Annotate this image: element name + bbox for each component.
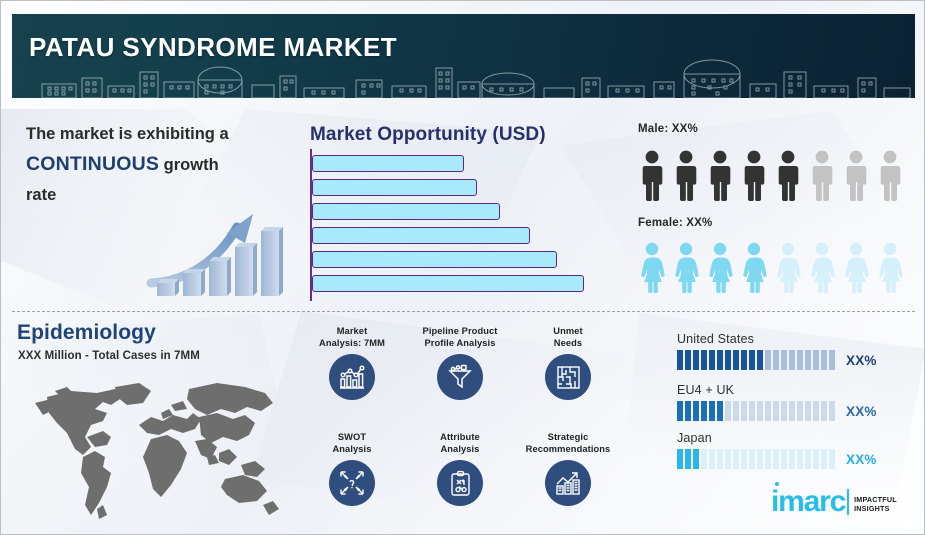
- segment: [677, 401, 683, 421]
- segment: [741, 350, 747, 370]
- male-person-icon: [637, 149, 667, 201]
- analysis-item-pipeline[interactable]: Pipeline Product Profile Analysis: [401, 325, 519, 400]
- logo-tagline: IMPACTFUL INSIGHTS: [854, 495, 897, 516]
- swot-arrows-question-icon[interactable]: [329, 460, 375, 506]
- segment: [733, 449, 739, 469]
- segment: [821, 449, 827, 469]
- growth-arrow-bar-chart-icon: [141, 199, 291, 299]
- analysis-item-swot[interactable]: SWOT Analysis: [293, 431, 411, 506]
- female-person-icon: [671, 241, 701, 293]
- segment: [773, 401, 779, 421]
- lead-line-1: The market is exhibiting a: [26, 125, 229, 143]
- segment: [757, 401, 763, 421]
- analysis-caption: Attribute Analysis: [401, 431, 519, 455]
- analysis-caption: SWOT Analysis: [293, 431, 411, 455]
- chart-bar: [312, 275, 584, 292]
- segment: [781, 350, 787, 370]
- country-segment-bar: [677, 401, 835, 421]
- male-person-icon: [739, 149, 769, 201]
- segment: [717, 350, 723, 370]
- analysis-caption-line2: Analysis: 7MM: [319, 338, 385, 348]
- segment: [829, 449, 835, 469]
- male-person-icon: [875, 149, 905, 201]
- segment: [805, 449, 811, 469]
- segment: [733, 350, 739, 370]
- market-opportunity-chart: [310, 149, 600, 301]
- country-name: United States: [677, 332, 877, 346]
- male-person-icon: [739, 149, 769, 201]
- segment: [813, 350, 819, 370]
- analysis-item-attribute[interactable]: Attribute Analysis: [401, 431, 519, 506]
- segment: [701, 401, 707, 421]
- segment: [685, 449, 691, 469]
- segment: [781, 449, 787, 469]
- segment: [693, 401, 699, 421]
- segment: [789, 449, 795, 469]
- segment: [701, 350, 707, 370]
- country-row-eu4-uk: EU4 + UK XX%: [677, 383, 877, 421]
- segment: [685, 350, 691, 370]
- female-person-icon: [841, 241, 871, 293]
- country-row-united-states: United States XX%: [677, 332, 877, 370]
- segment: [677, 350, 683, 370]
- analysis-caption-line2: Needs: [554, 338, 582, 348]
- segment: [757, 350, 763, 370]
- country-percent: XX%: [846, 353, 877, 368]
- male-person-icon: [671, 149, 701, 201]
- female-person-icon: [807, 241, 837, 293]
- chart-bar: [312, 203, 500, 220]
- logo-divider: [847, 489, 849, 515]
- analysis-caption: Unmet Needs: [509, 325, 627, 349]
- female-person-icon: [705, 241, 735, 293]
- analysis-caption-line1: Market: [337, 326, 368, 336]
- country-percent: XX%: [846, 452, 877, 467]
- market-opportunity-title: Market Opportunity (USD): [310, 124, 546, 146]
- segment: [749, 401, 755, 421]
- epidemiology-title: Epidemiology: [17, 321, 156, 345]
- segment: [789, 401, 795, 421]
- male-person-icon: [807, 149, 837, 201]
- segment: [709, 449, 715, 469]
- segment: [805, 401, 811, 421]
- clipboard-icon[interactable]: [437, 460, 483, 506]
- analysis-caption: Market Analysis: 7MM: [293, 325, 411, 349]
- analysis-caption-line2: Analysis: [440, 444, 479, 454]
- segment: [797, 350, 803, 370]
- female-person-icon: [671, 241, 701, 293]
- chart-bar: [312, 227, 530, 244]
- chart-bar: [312, 155, 464, 172]
- segment: [725, 449, 731, 469]
- segment: [821, 350, 827, 370]
- segment: [797, 449, 803, 469]
- analysis-item-market[interactable]: Market Analysis: 7MM: [293, 325, 411, 400]
- infographic-poster: PATAU SYNDROME MARKET: [0, 0, 925, 535]
- male-person-icon: [841, 149, 871, 201]
- analysis-caption-line2: Analysis: [332, 444, 371, 454]
- analysis-caption-line1: SWOT: [338, 432, 366, 442]
- analysis-caption-line1: Pipeline Product: [423, 326, 498, 336]
- segment: [797, 401, 803, 421]
- lead-highlight: CONTINUOUS: [26, 153, 159, 175]
- male-person-icon: [705, 149, 735, 201]
- segment: [813, 449, 819, 469]
- male-person-icon: [671, 149, 701, 201]
- analysis-caption-line2: Recommendations: [526, 444, 611, 454]
- segment: [709, 401, 715, 421]
- male-person-icon: [637, 149, 667, 201]
- country-segment-bar: [677, 449, 835, 469]
- segment: [741, 449, 747, 469]
- male-person-icon: [773, 149, 803, 201]
- segment: [733, 401, 739, 421]
- segment: [821, 401, 827, 421]
- epidemiology-subtitle: XXX Million - Total Cases in 7MM: [18, 350, 200, 362]
- country-percent: XX%: [846, 404, 877, 419]
- female-person-icon: [739, 241, 769, 293]
- female-person-icon: [637, 241, 667, 293]
- bar-chart-trend-icon[interactable]: [329, 354, 375, 400]
- segment: [749, 350, 755, 370]
- segment: [701, 449, 707, 469]
- segment: [749, 449, 755, 469]
- country-name: Japan: [677, 431, 877, 445]
- segment: [725, 401, 731, 421]
- male-label: Male: XX%: [638, 123, 698, 135]
- lead-statement: The market is exhibiting a CONTINUOUS gr…: [26, 119, 296, 210]
- lead-line-2-rest: growth: [159, 156, 219, 174]
- female-person-icon: [637, 241, 667, 293]
- analysis-caption: Strategic Recommendations: [509, 431, 627, 455]
- male-person-icon: [875, 149, 905, 201]
- country-row-japan: Japan XX%: [677, 431, 877, 469]
- segment: [757, 449, 763, 469]
- female-person-icon: [773, 241, 803, 293]
- header-banner: PATAU SYNDROME MARKET: [12, 14, 915, 98]
- segment: [829, 401, 835, 421]
- lead-line-3: rate: [26, 186, 56, 204]
- growth-chart-arrow-icon[interactable]: [545, 460, 591, 506]
- segment: [773, 350, 779, 370]
- segment: [765, 350, 771, 370]
- analysis-caption-line2: Profile Analysis: [424, 338, 495, 348]
- segment: [677, 449, 683, 469]
- analysis-caption-line1: Unmet: [553, 326, 582, 336]
- analysis-item-unmet-needs[interactable]: Unmet Needs: [509, 325, 627, 400]
- funnel-icon[interactable]: [437, 354, 483, 400]
- male-person-icon: [773, 149, 803, 201]
- segment: [765, 401, 771, 421]
- segment: [789, 350, 795, 370]
- female-person-icon: [841, 241, 871, 293]
- section-divider: [12, 311, 915, 312]
- segment: [693, 449, 699, 469]
- female-person-icon: [807, 241, 837, 293]
- imarc-logo[interactable]: imarc IMPACTFUL INSIGHTS: [771, 488, 897, 516]
- segment: [741, 401, 747, 421]
- segment: [829, 350, 835, 370]
- analysis-caption-line1: Attribute: [440, 432, 480, 442]
- female-person-icon: [773, 241, 803, 293]
- female-pictogram-row: [637, 241, 905, 293]
- city-skyline-icon: [12, 58, 915, 98]
- maze-icon[interactable]: [545, 354, 591, 400]
- female-person-icon: [875, 241, 905, 293]
- male-person-icon: [705, 149, 735, 201]
- segment: [717, 449, 723, 469]
- segment: [693, 350, 699, 370]
- segment: [813, 401, 819, 421]
- analysis-caption: Pipeline Product Profile Analysis: [401, 325, 519, 349]
- logo-tagline-line1: IMPACTFUL: [854, 495, 897, 504]
- female-label: Female: XX%: [638, 217, 712, 229]
- segment: [685, 401, 691, 421]
- segment: [773, 449, 779, 469]
- chart-bar: [312, 179, 477, 196]
- analysis-item-strategic[interactable]: Strategic Recommendations: [509, 431, 627, 506]
- chart-bar: [312, 251, 557, 268]
- female-person-icon: [705, 241, 735, 293]
- segment: [709, 350, 715, 370]
- logo-dot: [775, 482, 779, 486]
- country-name: EU4 + UK: [677, 383, 877, 397]
- logo-wordmark: imarc: [771, 488, 845, 516]
- analysis-caption-line1: Strategic: [548, 432, 589, 442]
- logo-tagline-line2: INSIGHTS: [854, 504, 890, 513]
- segment: [717, 401, 723, 421]
- segment: [765, 449, 771, 469]
- male-person-icon: [841, 149, 871, 201]
- female-person-icon: [875, 241, 905, 293]
- segment: [805, 350, 811, 370]
- world-map-icon: [11, 369, 291, 524]
- male-person-icon: [807, 149, 837, 201]
- female-person-icon: [739, 241, 769, 293]
- country-segment-bar: [677, 350, 835, 370]
- male-pictogram-row: [637, 149, 905, 201]
- segment: [781, 401, 787, 421]
- segment: [725, 350, 731, 370]
